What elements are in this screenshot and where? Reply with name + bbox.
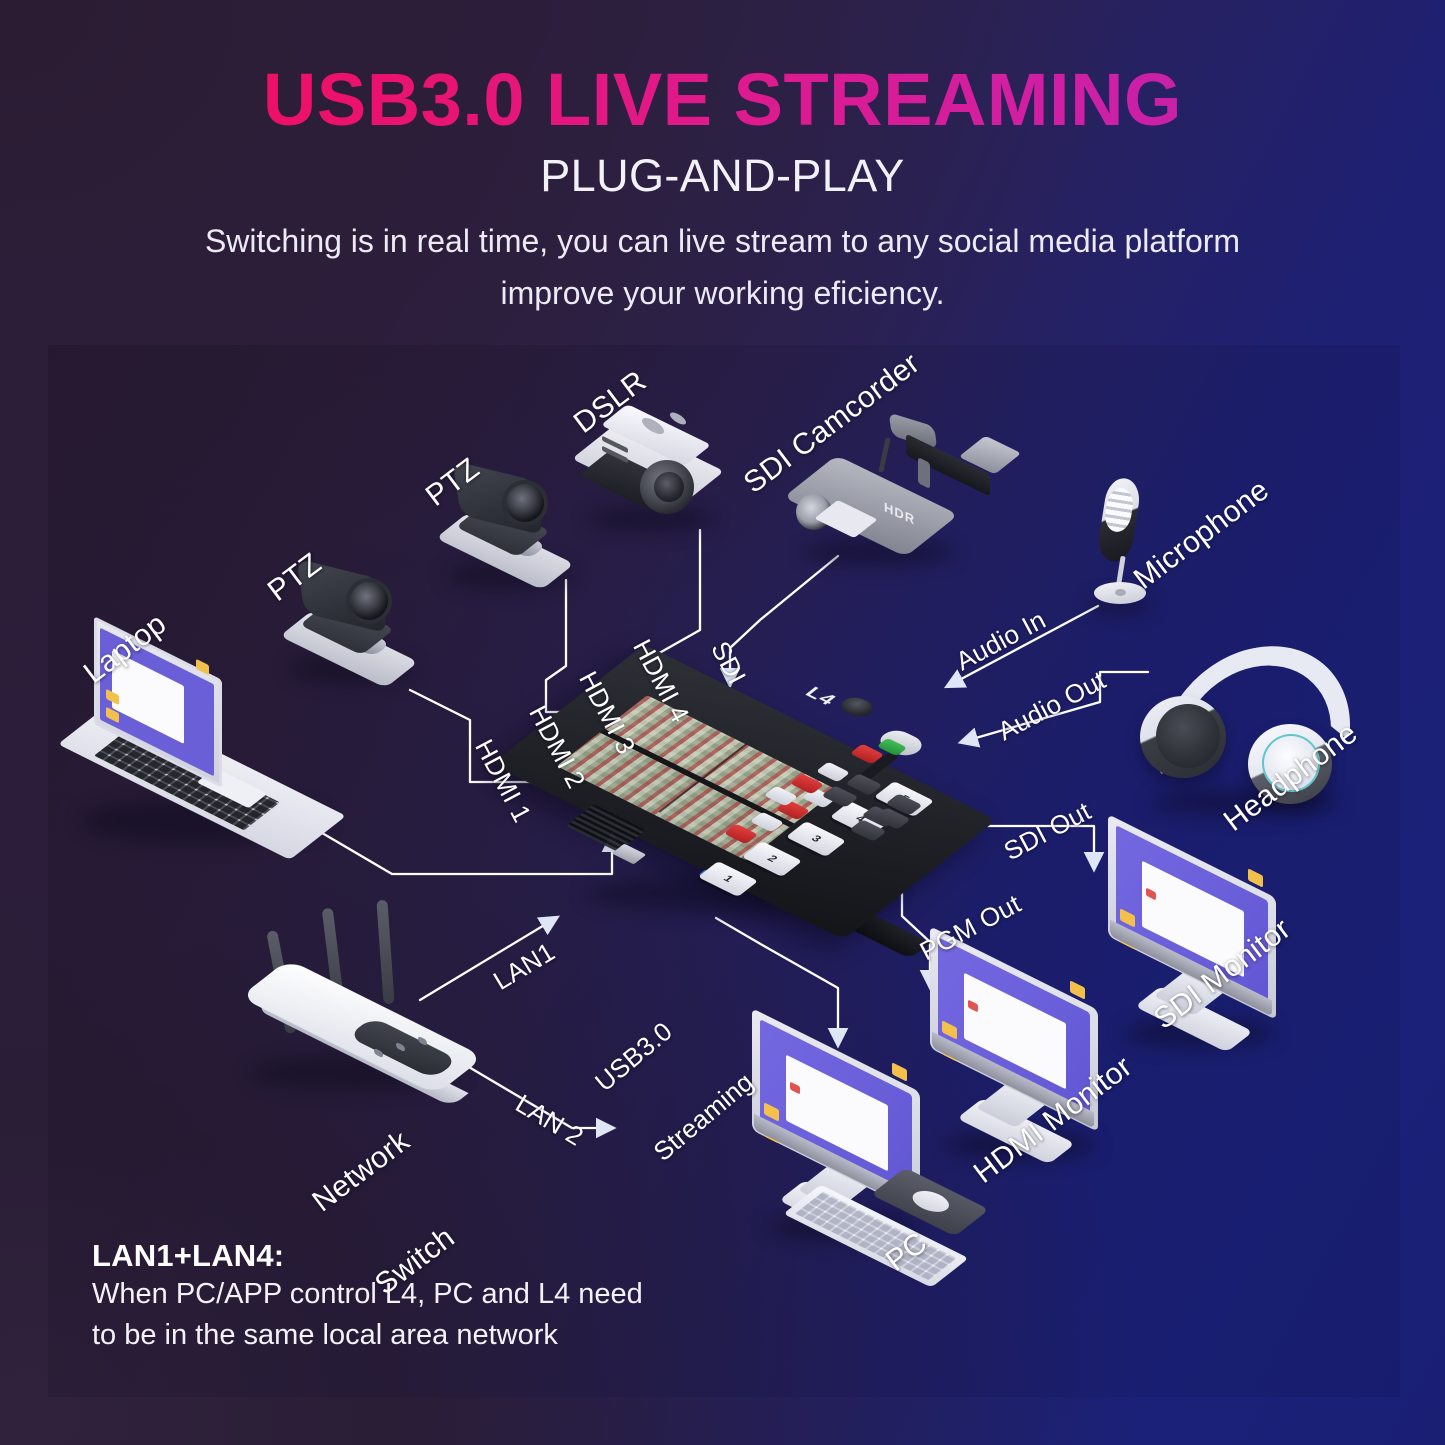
device-dslr <box>588 408 722 532</box>
header-description-line-1: Switching is in real time, you can live … <box>0 216 1445 268</box>
header-description-line-2: improve your working eficiency. <box>0 268 1445 320</box>
footnote-heading: LAN1+LAN4: <box>92 1238 732 1274</box>
headphone-earcup-left <box>1140 696 1226 778</box>
product-infographic: USB3.0 LIVE STREAMING PLUG-AND-PLAY Swit… <box>0 0 1445 1445</box>
label-network-switch-line-1: Network <box>306 1124 416 1219</box>
microphone-base <box>1094 582 1146 604</box>
label-usb-streaming-line-1: USB3.0 <box>589 997 701 1097</box>
ptz-2-lens <box>506 484 544 522</box>
page-subtitle: PLUG-AND-PLAY <box>0 150 1445 202</box>
l4-brand-label: L4 <box>799 684 840 709</box>
footnote-line-1: When PC/APP control L4, PC and L4 need <box>92 1274 732 1315</box>
header: USB3.0 LIVE STREAMING PLUG-AND-PLAY Swit… <box>0 0 1445 345</box>
device-microphone <box>1088 478 1158 618</box>
ptz-1-lens <box>350 582 388 620</box>
l4-joystick <box>835 694 878 720</box>
dslr-lens-inner <box>654 472 684 502</box>
dslr-shutter-button <box>670 410 686 427</box>
label-usb-streaming-line-2: Streaming <box>647 1066 759 1166</box>
device-network-switch <box>256 900 492 1090</box>
camcorder-mic-arm <box>878 438 890 472</box>
footnote: LAN1+LAN4: When PC/APP control L4, PC an… <box>92 1238 732 1355</box>
header-description: Switching is in real time, you can live … <box>0 216 1445 320</box>
page-title: USB3.0 LIVE STREAMING <box>0 63 1445 137</box>
network-switch-antenna-3 <box>376 900 394 1005</box>
footnote-line-2: to be in the same local area network <box>92 1315 732 1356</box>
dslr-shadow <box>588 506 714 532</box>
camcorder-focus-ring <box>918 457 930 489</box>
